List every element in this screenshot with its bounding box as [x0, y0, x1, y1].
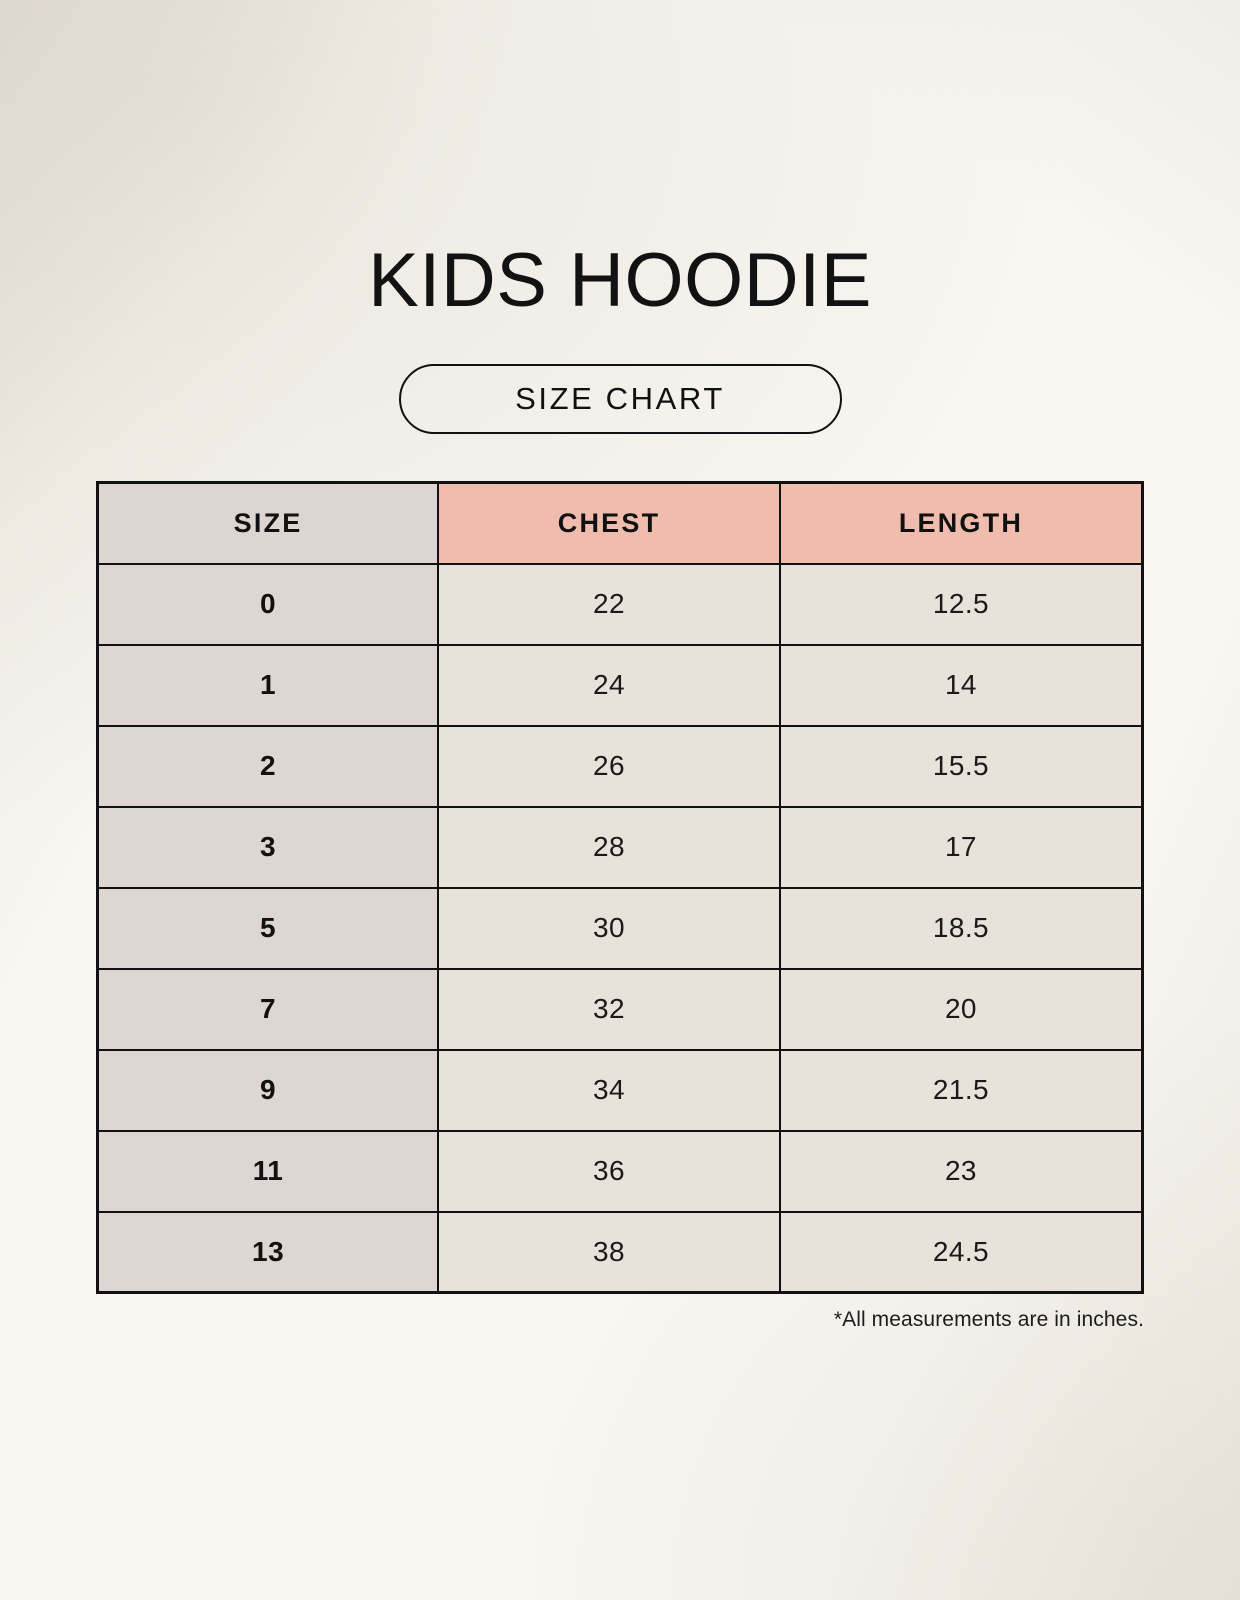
cell-length: 17: [780, 807, 1143, 888]
cell-size: 0: [98, 564, 439, 645]
page-title: KIDS HOODIE: [0, 0, 1240, 319]
cell-length: 15.5: [780, 726, 1143, 807]
cell-length: 12.5: [780, 564, 1143, 645]
size-table-container: SIZE CHEST LENGTH 02212.51241422615.5328…: [96, 481, 1144, 1294]
cell-size: 7: [98, 969, 439, 1050]
table-row: 22615.5: [98, 726, 1143, 807]
table-row: 12414: [98, 645, 1143, 726]
cell-chest: 24: [438, 645, 780, 726]
cell-chest: 22: [438, 564, 780, 645]
table-row: 133824.5: [98, 1212, 1143, 1293]
cell-size: 13: [98, 1212, 439, 1293]
badge-container: SIZE CHART: [0, 364, 1240, 434]
table-row: 113623: [98, 1131, 1143, 1212]
cell-chest: 32: [438, 969, 780, 1050]
cell-chest: 36: [438, 1131, 780, 1212]
size-chart-table: SIZE CHEST LENGTH 02212.51241422615.5328…: [96, 481, 1144, 1294]
size-chart-page: KIDS HOODIE SIZE CHART SIZE CHEST LENGTH: [0, 0, 1240, 1600]
cell-length: 14: [780, 645, 1143, 726]
cell-chest: 34: [438, 1050, 780, 1131]
cell-chest: 26: [438, 726, 780, 807]
table-row: 53018.5: [98, 888, 1143, 969]
table-header-row: SIZE CHEST LENGTH: [98, 483, 1143, 564]
table-row: 73220: [98, 969, 1143, 1050]
cell-length: 24.5: [780, 1212, 1143, 1293]
column-header-length: LENGTH: [780, 483, 1143, 564]
cell-size: 9: [98, 1050, 439, 1131]
column-header-size: SIZE: [98, 483, 439, 564]
cell-size: 11: [98, 1131, 439, 1212]
measurement-units-note: *All measurements are in inches.: [96, 1308, 1144, 1332]
content-container: KIDS HOODIE SIZE CHART SIZE CHEST LENGTH: [0, 0, 1240, 1332]
cell-size: 5: [98, 888, 439, 969]
table-body: 02212.51241422615.53281753018.5732209342…: [98, 564, 1143, 1293]
cell-length: 20: [780, 969, 1143, 1050]
table-row: 02212.5: [98, 564, 1143, 645]
cell-chest: 38: [438, 1212, 780, 1293]
size-chart-badge: SIZE CHART: [399, 364, 842, 434]
column-header-chest: CHEST: [438, 483, 780, 564]
cell-size: 3: [98, 807, 439, 888]
cell-chest: 30: [438, 888, 780, 969]
table-row: 32817: [98, 807, 1143, 888]
table-row: 93421.5: [98, 1050, 1143, 1131]
table-header: SIZE CHEST LENGTH: [98, 483, 1143, 564]
cell-length: 18.5: [780, 888, 1143, 969]
cell-length: 23: [780, 1131, 1143, 1212]
cell-chest: 28: [438, 807, 780, 888]
cell-size: 2: [98, 726, 439, 807]
cell-size: 1: [98, 645, 439, 726]
cell-length: 21.5: [780, 1050, 1143, 1131]
